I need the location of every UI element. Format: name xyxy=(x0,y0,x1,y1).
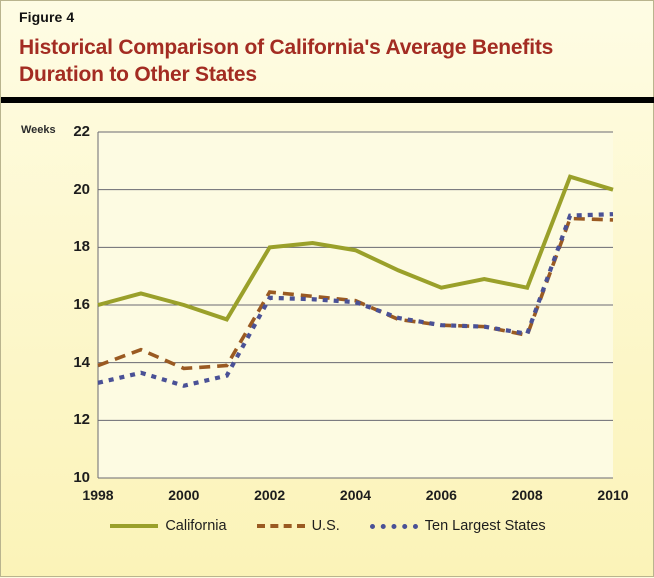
plot-canvas xyxy=(1,103,654,578)
legend-label: U.S. xyxy=(312,518,340,534)
chart-legend: CaliforniaU.S.Ten Largest States xyxy=(1,518,654,534)
legend-label: California xyxy=(165,518,226,534)
figure-title: Historical Comparison of California's Av… xyxy=(19,34,639,88)
line-chart: Weeks 10121416182022 1998200020022004200… xyxy=(1,103,654,578)
legend-label: Ten Largest States xyxy=(425,518,546,534)
legend-item-california[interactable]: California xyxy=(110,518,226,534)
figure-number: Figure 4 xyxy=(19,9,74,25)
legend-item-u-s[interactable]: U.S. xyxy=(257,518,340,534)
legend-swatch-solid-icon xyxy=(110,524,158,528)
figure-panel: Figure 4 Historical Comparison of Califo… xyxy=(0,0,654,577)
legend-swatch-dashed-icon xyxy=(257,524,305,528)
legend-item-ten-largest-states[interactable]: Ten Largest States xyxy=(370,518,546,534)
legend-swatch-dotted-icon xyxy=(370,524,418,529)
